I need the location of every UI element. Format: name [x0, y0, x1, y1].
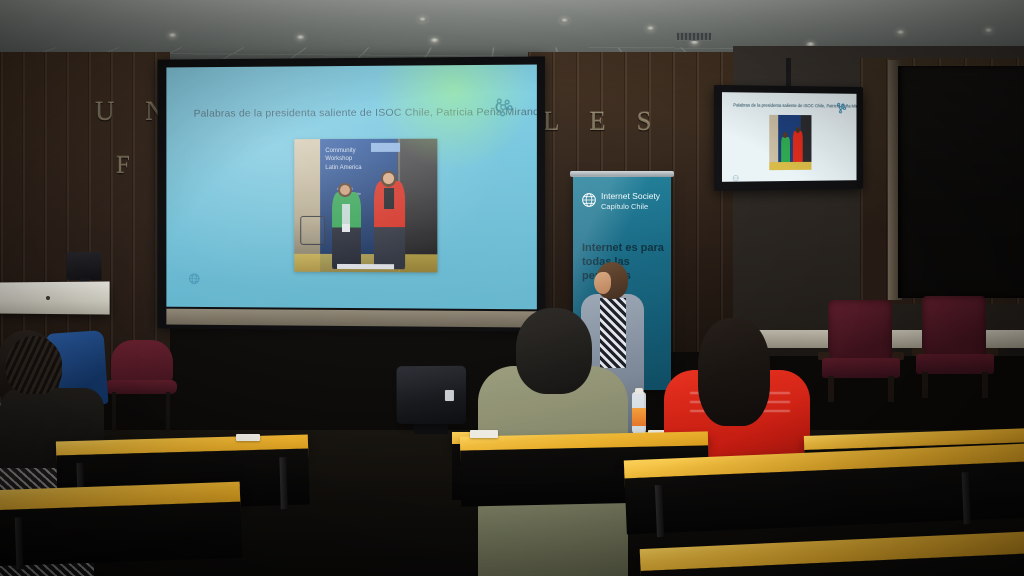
- downlight-icon: [418, 17, 427, 22]
- chair-leg: [982, 372, 988, 398]
- desk-leg: [279, 457, 287, 509]
- tv-internet-society-globe-logo: [732, 168, 739, 175]
- pa-loudspeaker: [397, 366, 466, 424]
- stacking-chair: [103, 340, 179, 432]
- slide-title-text: Palabras de la presidenta saliente de IS…: [194, 106, 537, 120]
- paper-sheet: [236, 434, 260, 441]
- wall-mounted-tv: Palabras de la presidenta saliente de IS…: [714, 85, 863, 191]
- dark-alcove: [898, 66, 1024, 298]
- chair-leg: [922, 372, 928, 398]
- shelf-indicator-dot: [46, 296, 50, 300]
- internet-society-globe-logo: [188, 272, 201, 285]
- downlight-icon: [560, 18, 569, 23]
- attendee-red-shirt-hair: [698, 318, 770, 426]
- attendee-left-near-hair: [6, 336, 62, 394]
- chair-leg: [112, 392, 116, 432]
- armchair: [912, 296, 998, 398]
- downlight-icon: [896, 30, 905, 35]
- tv-mirrored-slide: Palabras de la presidenta saliente de IS…: [722, 92, 856, 182]
- photo-chair: [300, 216, 326, 245]
- armchair: [818, 300, 904, 402]
- wall-shelf: [0, 281, 110, 314]
- photo-wall-left: [294, 139, 321, 272]
- attendee-olive-shirt-hair: [516, 308, 592, 394]
- photo-blue-bar: [371, 142, 400, 151]
- downlight-icon: [430, 38, 439, 43]
- downlight-icon: [984, 28, 993, 33]
- photo-table: [337, 264, 394, 270]
- water-bottle-label: [632, 408, 646, 426]
- water-bottle-cap: [635, 388, 643, 394]
- air-vent: [676, 32, 712, 41]
- chair-seat: [916, 354, 994, 374]
- presenter-patterned-top: [600, 298, 626, 368]
- downlight-icon: [296, 35, 305, 40]
- slide-embedded-photo: Community Workshop Latin America April 2…: [294, 138, 437, 272]
- chair-back: [828, 300, 892, 366]
- photo-badge: [342, 224, 351, 232]
- photo-person-red-shirt: [384, 188, 394, 209]
- chair-leg: [166, 392, 170, 432]
- wall-letters-les: L E S: [543, 106, 664, 137]
- chair-seat: [822, 358, 900, 378]
- photo-lanyard: [342, 204, 349, 225]
- chair-leg: [888, 376, 894, 402]
- tv-internet-society-nodes-logo: [835, 101, 847, 114]
- downlight-icon: [646, 26, 655, 31]
- tv-embedded-photo: [769, 115, 812, 170]
- chair-back: [922, 296, 986, 362]
- conference-room-photo: U N I F L E S Palabras de la presidenta …: [0, 0, 1024, 576]
- tv-wall-mount: [786, 58, 791, 88]
- speaker-brand-badge: [445, 390, 454, 401]
- tv-screen: Palabras de la presidenta saliente de IS…: [722, 92, 856, 182]
- internet-society-nodes-logo: [492, 96, 514, 118]
- wall-letters-f: F: [116, 152, 142, 180]
- downlight-icon: [168, 33, 177, 38]
- projected-slide: Palabras de la presidenta saliente de IS…: [166, 65, 536, 310]
- screen-bottom-strip: [166, 309, 536, 328]
- photo-backdrop-text: Community Workshop Latin America: [325, 147, 361, 173]
- chair-back: [111, 340, 173, 382]
- chair-leg: [828, 376, 834, 402]
- paper-sheet: [470, 430, 498, 438]
- shelf-monitor-device: [67, 252, 102, 280]
- projection-screen: Palabras de la presidenta saliente de IS…: [158, 56, 545, 331]
- presenter-face: [594, 272, 611, 294]
- desk-underside: [0, 502, 242, 567]
- photo-person-red-face: [383, 173, 394, 184]
